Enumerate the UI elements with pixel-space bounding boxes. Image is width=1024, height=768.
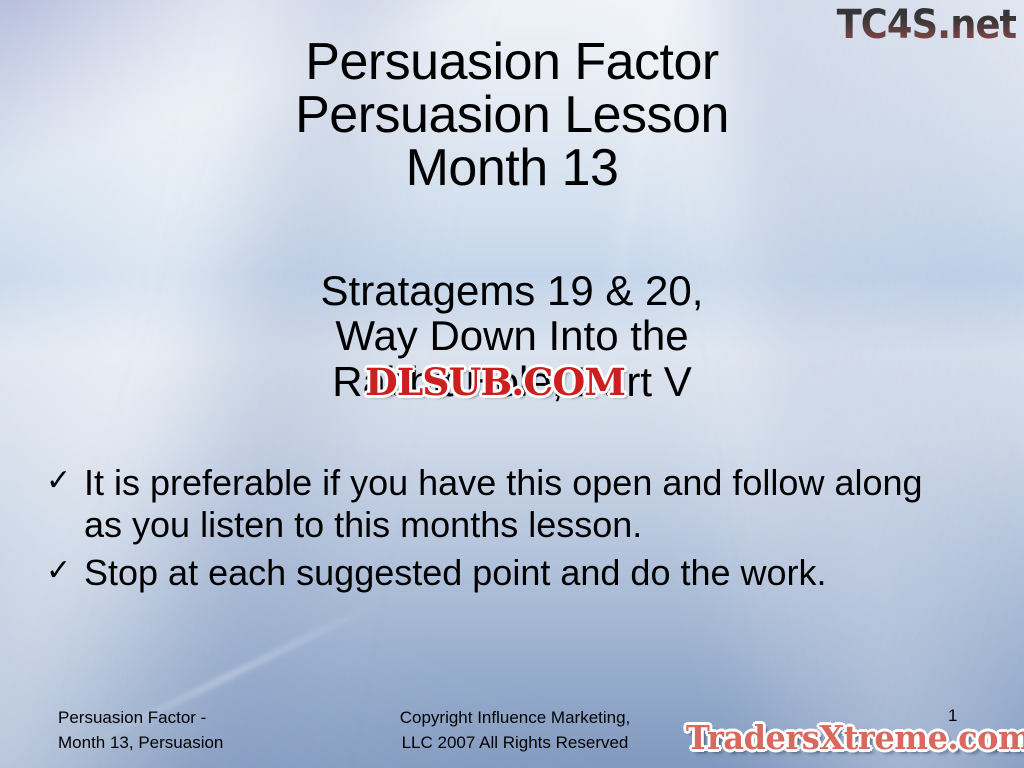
tc4s-logo: TC4S.net [836,2,1016,48]
bullet-text: It is preferable if you have this open a… [84,462,964,546]
title-line-3: Month 13 [0,142,1024,195]
slide-title: Persuasion Factor Persuasion Lesson Mont… [0,36,1024,195]
subtitle-line-2: Way Down Into the [0,313,1024,358]
checkmark-icon: ✓ [46,462,84,500]
bullet-text: Stop at each suggested point and do the … [84,552,964,594]
list-item: ✓ Stop at each suggested point and do th… [46,552,964,594]
subtitle-line-1: Stratagems 19 & 20, [0,268,1024,313]
title-line-2: Persuasion Lesson [0,89,1024,142]
list-item: ✓ It is preferable if you have this open… [46,462,964,546]
dlsub-watermark: DLSUB.COM [365,360,625,404]
slide-canvas: Persuasion Factor Persuasion Lesson Mont… [0,0,1024,768]
footer-left-text: Persuasion Factor - Month 13, Persuasion [58,706,223,755]
bullet-list: ✓ It is preferable if you have this open… [46,462,964,600]
tradersxtreme-logo: TradersXtreme.com [686,718,1024,757]
footer-copyright-text: Copyright Influence Marketing, LLC 2007 … [370,706,660,755]
checkmark-icon: ✓ [46,552,84,590]
